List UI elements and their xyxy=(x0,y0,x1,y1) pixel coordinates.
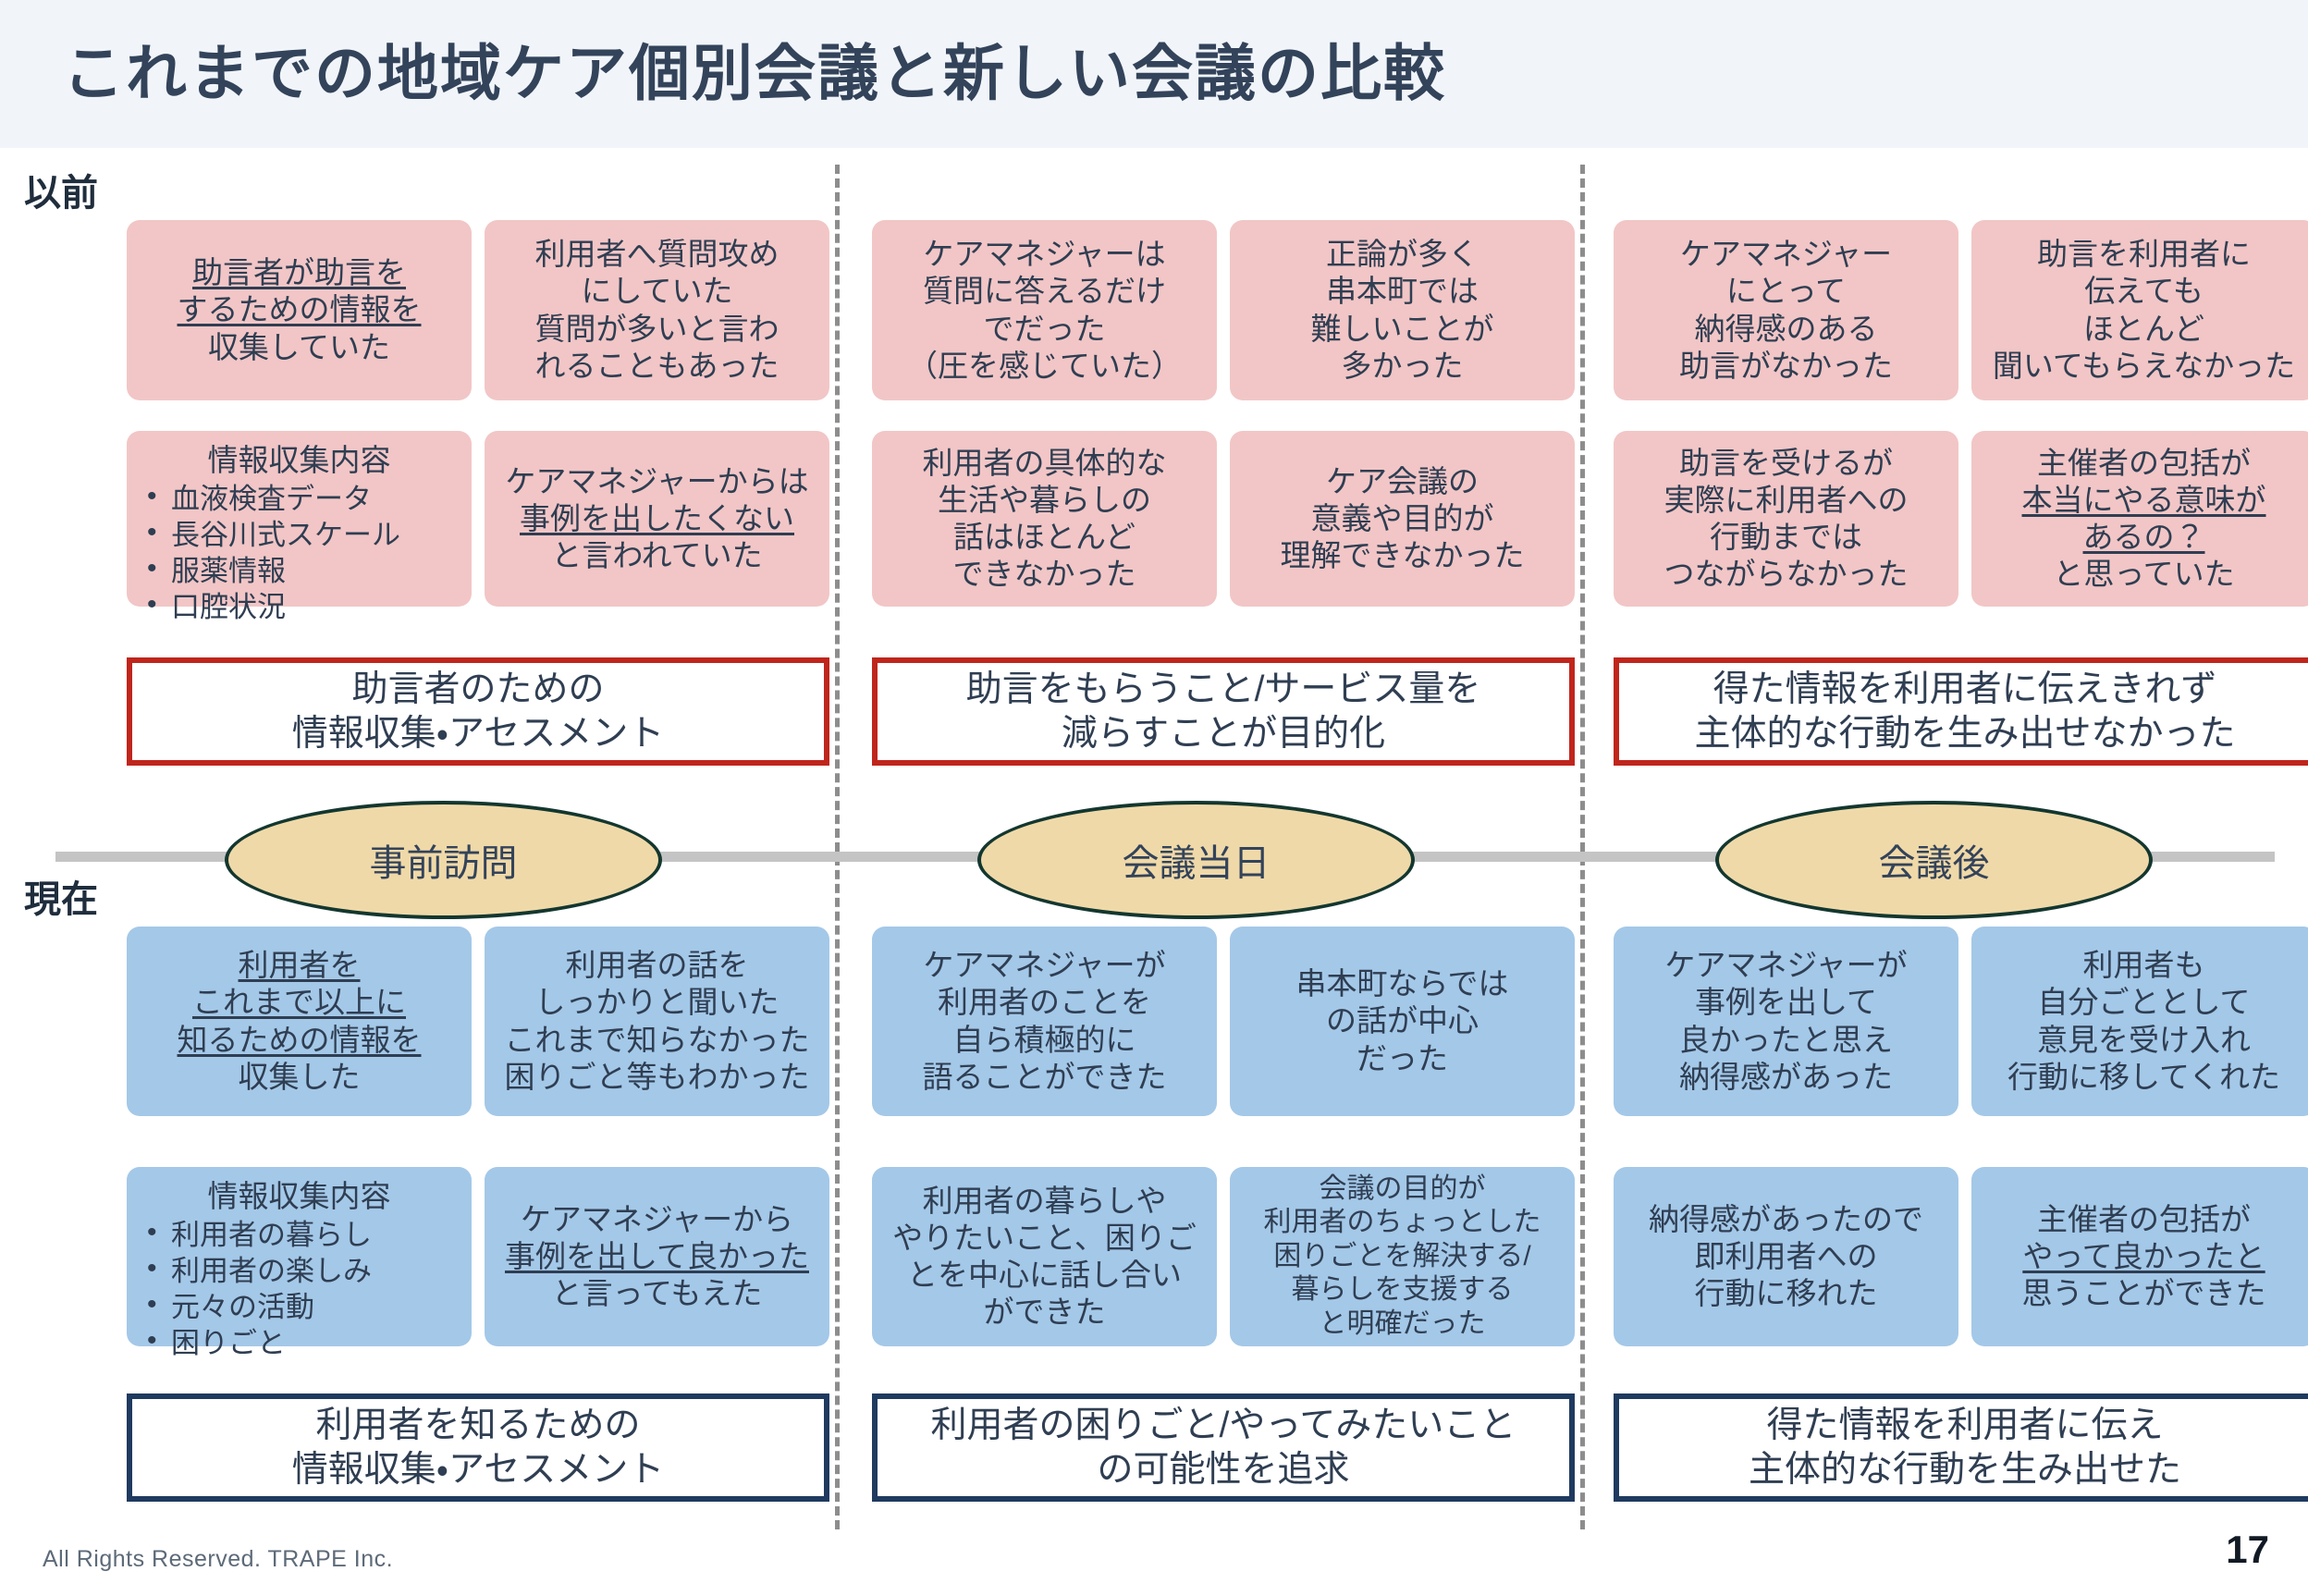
summary-line: 助言者のための xyxy=(292,668,664,712)
card-line: 主催者の包括が xyxy=(2037,445,2251,482)
card-line: 助言がなかった xyxy=(1679,348,1893,385)
before-col3-summary: 得た情報を利用者に伝えきれず主体的な行動を生み出せなかった xyxy=(1614,657,2308,766)
card: 利用者をこれまで以上に知るための情報を収集した xyxy=(127,927,472,1116)
card-line: 納得感があった xyxy=(1679,1059,1893,1096)
before-col3-row1: ケアマネジャーにとって納得感のある助言がなかった 助言を利用者に伝えてもほとんど… xyxy=(1614,220,2308,400)
summary-text: 利用者を知るための情報収集・アセスメント xyxy=(292,1404,664,1492)
card: 利用者へ質問攻めにしていた質問が多いと言われることもあった xyxy=(485,220,829,400)
card-line: 思うことができた xyxy=(2022,1275,2266,1312)
card-line: でだった xyxy=(984,311,1106,348)
card-line: にとって xyxy=(1726,273,1846,310)
card-line: 利用者も xyxy=(2083,947,2205,984)
summary-line: 得た情報を利用者に伝え xyxy=(1749,1404,2181,1448)
card-line: 理解できなかった xyxy=(1281,537,1525,574)
section-label-before: 以前 xyxy=(24,163,98,216)
card: ケアマネジャーは質問に答えるだけでだった（圧を感じていた） xyxy=(872,220,1217,400)
bullet-item: 服薬情報 xyxy=(171,553,462,589)
card: 主催者の包括がやって良かったと思うことができた xyxy=(1971,1167,2308,1346)
card-line: 多かった xyxy=(1342,348,1464,385)
card-line: 正論が多く xyxy=(1326,236,1479,273)
card: 正論が多く串本町では難しいことが多かった xyxy=(1230,220,1575,400)
summary-line: 得た情報を利用者に伝えきれず xyxy=(1694,668,2235,712)
card-line: しっかりと聞いた xyxy=(535,984,780,1021)
bullet-list-title: 情報収集内容 xyxy=(136,442,462,479)
card-line: ほとんど xyxy=(2083,311,2204,348)
card: 情報収集内容利用者の暮らし利用者の楽しみ元々の活動困りごと xyxy=(127,1167,472,1346)
card-line: 助言を受けるが xyxy=(1679,445,1893,482)
now-col3-summary: 得た情報を利用者に伝え主体的な行動を生み出せた xyxy=(1614,1393,2308,1502)
card-line: 知るための情報を xyxy=(178,1022,422,1059)
card-line: 利用者の具体的な xyxy=(923,445,1167,482)
summary-line: 情報収集・アセスメント xyxy=(292,1448,664,1492)
card: 串本町ならではの話が中心だった xyxy=(1230,927,1575,1116)
now-col1-row2: 情報収集内容利用者の暮らし利用者の楽しみ元々の活動困りごと ケアマネジャーから事… xyxy=(127,1167,829,1346)
summary-line: 主体的な行動を生み出せた xyxy=(1749,1448,2181,1492)
card-line: ケアマネジャーからは xyxy=(505,463,808,500)
card-line: 納得感のある xyxy=(1695,311,1878,348)
before-col1-summary: 助言者のための情報収集・アセスメント xyxy=(127,657,829,766)
summary-line: 利用者を知るための xyxy=(292,1404,664,1448)
card-line: 難しいことが xyxy=(1311,311,1494,348)
card-line: ケアマネジャーが xyxy=(1664,947,1907,984)
card-line: 自ら積極的に xyxy=(953,1022,1136,1059)
card-line: ケアマネジャーが xyxy=(923,947,1165,984)
column-divider-2 xyxy=(1580,165,1585,1529)
card-line: 生活や暮らしの xyxy=(938,482,1151,519)
summary-line: の可能性を追求 xyxy=(931,1448,1516,1492)
card-line: あるの？ xyxy=(2083,519,2205,556)
card-line: 行動に移してくれた xyxy=(2007,1059,2280,1096)
before-col2-row2: 利用者の具体的な生活や暮らしの話はほとんどできなかった ケア会議の意義や目的が理… xyxy=(872,431,1575,607)
card-line: 困りごと等もわかった xyxy=(505,1059,810,1096)
card-line: 収集していた xyxy=(208,329,390,366)
bullet-item: 血液検査データ xyxy=(171,481,462,517)
slide-root: これまでの地域ケア個別会議と新しい会議の比較 以前 現在 事前訪問 会議当日 会… xyxy=(0,0,2308,1596)
bullet-item: 長谷川式スケール xyxy=(171,517,462,553)
card-line: 即利用者への xyxy=(1695,1238,1878,1275)
card-line: 自分ごととして xyxy=(2037,984,2250,1021)
card-line: と明確だった xyxy=(1320,1307,1486,1342)
now-col3-row2: 納得感があったので即利用者への行動に移れた 主催者の包括がやって良かったと思うこ… xyxy=(1614,1167,2308,1346)
bullet-item: 困りごと xyxy=(171,1325,462,1361)
card-line: 質問に答えるだけ xyxy=(923,273,1166,310)
card-line: できなかった xyxy=(953,556,1136,593)
section-label-now: 現在 xyxy=(24,869,98,923)
card-line: と思っていた xyxy=(2053,556,2234,593)
card: ケアマネジャーから事例を出して良かったと言ってもえた xyxy=(485,1167,829,1346)
summary-line: 減らすことが目的化 xyxy=(966,712,1481,756)
card-line: これまで知らなかった xyxy=(505,1022,810,1059)
card-line: 利用者のちょっとした xyxy=(1264,1206,1541,1240)
card-line: 主催者の包括が xyxy=(2037,1201,2251,1238)
card-line: 利用者を xyxy=(239,947,361,984)
card-line: の話が中心 xyxy=(1326,1002,1479,1039)
card: ケア会議の意義や目的が理解できなかった xyxy=(1230,431,1575,607)
card: 情報収集内容血液検査データ長谷川式スケール服薬情報口腔状況 xyxy=(127,431,472,607)
now-col1-summary: 利用者を知るための情報収集・アセスメント xyxy=(127,1393,829,1502)
card: 利用者の話をしっかりと聞いたこれまで知らなかった困りごと等もわかった xyxy=(485,927,829,1116)
card-line: 話はほとんど xyxy=(953,519,1136,556)
timeline-stage-1: 事前訪問 xyxy=(225,801,662,919)
card-line: ケアマネジャーから xyxy=(521,1201,793,1238)
column-divider-1 xyxy=(835,165,840,1529)
card-line: 利用者の話を xyxy=(566,947,749,984)
card-line: 利用者へ質問攻め xyxy=(535,236,780,273)
page-number: 17 xyxy=(2226,1528,2269,1572)
bullet-item: 利用者の楽しみ xyxy=(171,1253,462,1289)
bullet-list: 利用者の暮らし利用者の楽しみ元々の活動困りごと xyxy=(136,1217,462,1361)
card-line: 良かったと思え xyxy=(1679,1022,1893,1059)
card-line: 収集した xyxy=(239,1059,361,1096)
now-col2-row2: 利用者の暮らしややりたいこと、困りごとを中心に話し合いができた 会議の目的が利用… xyxy=(872,1167,1575,1346)
summary-line: 主体的な行動を生み出せなかった xyxy=(1694,712,2235,756)
card: 利用者の暮らしややりたいこと、困りごとを中心に話し合いができた xyxy=(872,1167,1217,1346)
card-line: 行動に移れた xyxy=(1695,1275,1878,1312)
summary-line: 助言をもらうこと/サービス量を xyxy=(966,668,1481,712)
now-col2-summary: 利用者の困りごと/やってみたいことの可能性を追求 xyxy=(872,1393,1575,1502)
card-line: ケア会議の xyxy=(1326,463,1479,500)
card-line: やりたいこと、困りご xyxy=(892,1220,1197,1257)
card-line: 助言を利用者に xyxy=(2037,236,2251,273)
card-line: 利用者のことを xyxy=(938,984,1151,1021)
card: 利用者も自分ごととして意見を受け入れ行動に移してくれた xyxy=(1971,927,2308,1116)
before-col2-summary: 助言をもらうこと/サービス量を減らすことが目的化 xyxy=(872,657,1575,766)
card: 主催者の包括が本当にやる意味があるの？と思っていた xyxy=(1971,431,2308,607)
card-line: れることもあった xyxy=(535,348,780,385)
card: 助言を利用者に伝えてもほとんど聞いてもらえなかった xyxy=(1971,220,2308,400)
card-line: 納得感があったので xyxy=(1649,1201,1923,1238)
now-col3-row1: ケアマネジャーが事例を出して良かったと思え納得感があった 利用者も自分ごととして… xyxy=(1614,927,2308,1116)
timeline-stage-3: 会議後 xyxy=(1715,801,2153,919)
card: 会議の目的が利用者のちょっとした困りごとを解決する/暮らしを支援すると明確だった xyxy=(1230,1167,1575,1346)
card-line: （圧を感じていた） xyxy=(907,348,1182,385)
card-line: 質問が多いと言わ xyxy=(535,311,780,348)
before-col1-row2: 情報収集内容血液検査データ長谷川式スケール服薬情報口腔状況 ケアマネジャーからは… xyxy=(127,431,829,607)
card-line: 会議の目的が xyxy=(1320,1172,1486,1207)
summary-text: 助言者のための情報収集・アセスメント xyxy=(292,668,664,755)
card: 助言を受けるが実際に利用者への行動まではつながらなかった xyxy=(1614,431,1958,607)
card-line: 困りごとを解決する/ xyxy=(1273,1240,1530,1274)
card-line: 本当にやる意味が xyxy=(2022,482,2266,519)
card-line: 事例を出して xyxy=(1695,984,1877,1021)
before-col3-row2: 助言を受けるが実際に利用者への行動まではつながらなかった 主催者の包括が本当にや… xyxy=(1614,431,2308,607)
bullet-item: 利用者の暮らし xyxy=(171,1217,462,1253)
card-line: 利用者の暮らしや xyxy=(923,1183,1167,1220)
timeline-stage-2: 会議当日 xyxy=(977,801,1415,919)
card-line: 助言者が助言を xyxy=(192,254,406,291)
card-line: 暮らしを支援する xyxy=(1292,1273,1514,1307)
before-col1-row1: 助言者が助言をするための情報を収集していた 利用者へ質問攻めにしていた質問が多い… xyxy=(127,220,829,400)
card: ケアマネジャーからは事例を出したくないと言われていた xyxy=(485,431,829,607)
card-line: 意見を受け入れ xyxy=(2037,1022,2251,1059)
card-line: 聞いてもらえなかった xyxy=(1993,348,2295,385)
card-line: 行動までは xyxy=(1710,519,1862,556)
card-line: ができた xyxy=(984,1294,1106,1331)
card-line: と言われていた xyxy=(551,537,762,574)
card-line: 語ることができた xyxy=(923,1059,1167,1096)
card-line: 串本町ならでは xyxy=(1295,965,1508,1002)
summary-text: 得た情報を利用者に伝えきれず主体的な行動を生み出せなかった xyxy=(1694,668,2235,755)
card-line: するための情報を xyxy=(178,291,422,328)
card-line: これまで以上に xyxy=(192,984,406,1021)
card-line: つながらなかった xyxy=(1664,556,1909,593)
card: 利用者の具体的な生活や暮らしの話はほとんどできなかった xyxy=(872,431,1217,607)
now-col2-row1: ケアマネジャーが利用者のことを自ら積極的に語ることができた 串本町ならではの話が… xyxy=(872,927,1575,1116)
card-line: にしていた xyxy=(581,273,732,310)
card-line: 事例を出したくない xyxy=(520,500,794,537)
card-line: ケアマネジャー xyxy=(1680,236,1892,273)
card-line: やって良かったと xyxy=(2022,1238,2265,1275)
summary-text: 助言をもらうこと/サービス量を減らすことが目的化 xyxy=(966,668,1481,755)
card-line: とを中心に話し合い xyxy=(907,1257,1182,1294)
card-line: 串本町では xyxy=(1326,273,1479,310)
bullet-list-title: 情報収集内容 xyxy=(136,1178,462,1215)
slide-header: これまでの地域ケア個別会議と新しい会議の比較 xyxy=(0,0,2308,148)
card-line: 意義や目的が xyxy=(1311,500,1494,537)
bullet-list: 血液検査データ長谷川式スケール服薬情報口腔状況 xyxy=(136,481,462,625)
card: ケアマネジャーが利用者のことを自ら積極的に語ることができた xyxy=(872,927,1217,1116)
bullet-item: 口腔状況 xyxy=(171,589,462,625)
card-line: 伝えても xyxy=(2084,273,2204,310)
summary-text: 利用者の困りごと/やってみたいことの可能性を追求 xyxy=(931,1404,1516,1492)
now-col1-row1: 利用者をこれまで以上に知るための情報を収集した 利用者の話をしっかりと聞いたこれ… xyxy=(127,927,829,1116)
card: ケアマネジャーにとって納得感のある助言がなかった xyxy=(1614,220,1958,400)
summary-line: 利用者の困りごと/やってみたいこと xyxy=(931,1404,1516,1448)
card-line: と言ってもえた xyxy=(552,1275,763,1312)
card-line: 事例を出して良かった xyxy=(505,1238,809,1275)
card-line: だった xyxy=(1357,1040,1448,1077)
card: 助言者が助言をするための情報を収集していた xyxy=(127,220,472,400)
footer-copyright: All Rights Reserved. TRAPE Inc. xyxy=(43,1546,393,1573)
bullet-item: 元々の活動 xyxy=(171,1289,462,1325)
page-title: これまでの地域ケア個別会議と新しい会議の比較 xyxy=(63,24,1446,113)
summary-text: 得た情報を利用者に伝え主体的な行動を生み出せた xyxy=(1749,1404,2181,1492)
card-line: ケアマネジャーは xyxy=(923,236,1165,273)
card: 納得感があったので即利用者への行動に移れた xyxy=(1614,1167,1958,1346)
summary-line: 情報収集・アセスメント xyxy=(292,712,664,756)
card: ケアマネジャーが事例を出して良かったと思え納得感があった xyxy=(1614,927,1958,1116)
card-line: 実際に利用者への xyxy=(1664,482,1909,519)
before-col2-row1: ケアマネジャーは質問に答えるだけでだった（圧を感じていた） 正論が多く串本町では… xyxy=(872,220,1575,400)
